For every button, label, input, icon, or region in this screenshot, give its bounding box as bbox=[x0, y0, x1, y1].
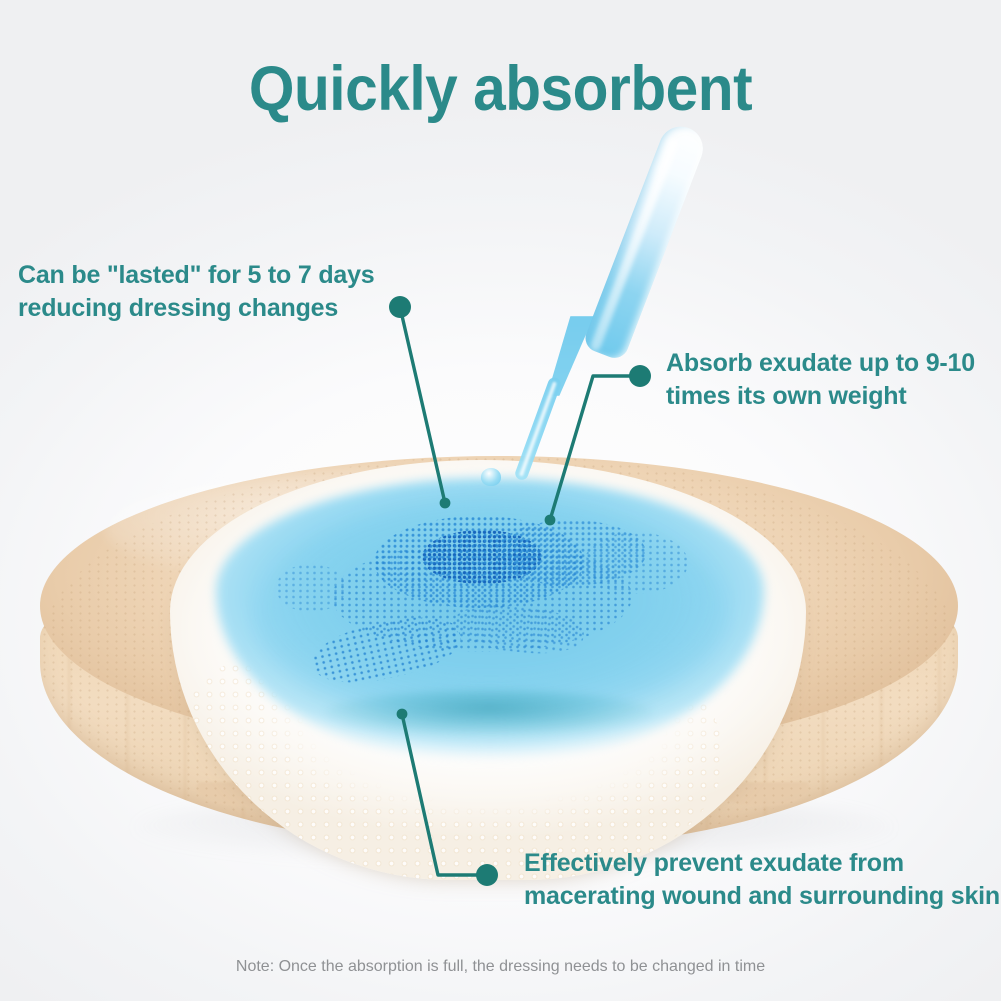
callout-durability-line1: Can be "lasted" for 5 to 7 days bbox=[18, 259, 375, 292]
callout-maceration-line2: macerating wound and surrounding skin bbox=[524, 880, 1000, 913]
footnote: Note: Once the absorption is full, the d… bbox=[0, 958, 1001, 976]
foam-dressing-illustration bbox=[24, 440, 974, 870]
callout-durability: Can be "lasted" for 5 to 7 days reducing… bbox=[18, 259, 375, 324]
exudate-seep-edge bbox=[324, 690, 654, 736]
pipette-stem-highlight bbox=[519, 381, 557, 476]
callout-maceration-prevention: Effectively prevent exudate from macerat… bbox=[524, 847, 1000, 912]
callout-maceration-line1: Effectively prevent exudate from bbox=[524, 847, 1000, 880]
callout-absorption-capacity: Absorb exudate up to 9-10 times its own … bbox=[666, 347, 975, 412]
infographic-canvas: Quickly absorbent bbox=[0, 0, 1001, 1001]
pipette-dropper bbox=[462, 120, 722, 490]
callout-durability-line2: reducing dressing changes bbox=[18, 292, 375, 325]
pipette-tip bbox=[481, 468, 501, 486]
callout-capacity-line1: Absorb exudate up to 9-10 bbox=[666, 347, 975, 380]
gel-granule-field bbox=[254, 502, 694, 692]
page-title: Quickly absorbent bbox=[35, 56, 966, 123]
pipette-shoulder bbox=[532, 316, 594, 396]
callout-capacity-line2: times its own weight bbox=[666, 380, 975, 413]
